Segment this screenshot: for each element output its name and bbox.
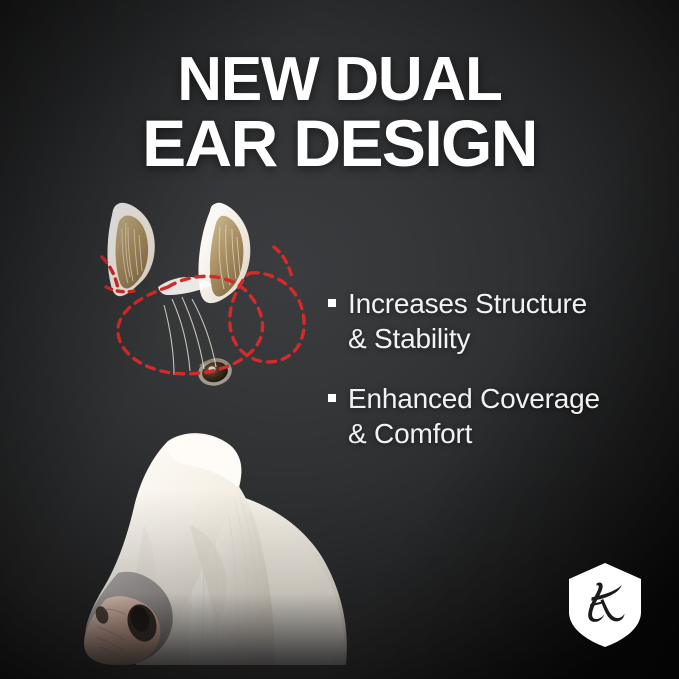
- headline-line-1: NEW DUAL: [0, 50, 679, 111]
- product-image-horse: [40, 195, 370, 665]
- square-bullet-icon: [328, 394, 336, 402]
- headline-line-2: EAR DESIGN: [0, 111, 679, 176]
- square-bullet-icon: [328, 299, 336, 307]
- bullet-line-1: Enhanced Coverage: [348, 381, 658, 416]
- bullet-line-2: & Stability: [348, 321, 658, 356]
- ad-canvas: NEW DUAL EAR DESIGN Increases Structure …: [0, 0, 679, 679]
- list-item: Increases Structure & Stability: [328, 286, 658, 357]
- bullet-line-2: & Comfort: [348, 416, 658, 451]
- headline: NEW DUAL EAR DESIGN: [0, 50, 679, 175]
- brand-logo: [566, 562, 644, 648]
- feature-bullet-list: Increases Structure & Stability Enhanced…: [328, 286, 658, 451]
- bullet-line-1: Increases Structure: [348, 286, 658, 321]
- list-item: Enhanced Coverage & Comfort: [328, 381, 658, 452]
